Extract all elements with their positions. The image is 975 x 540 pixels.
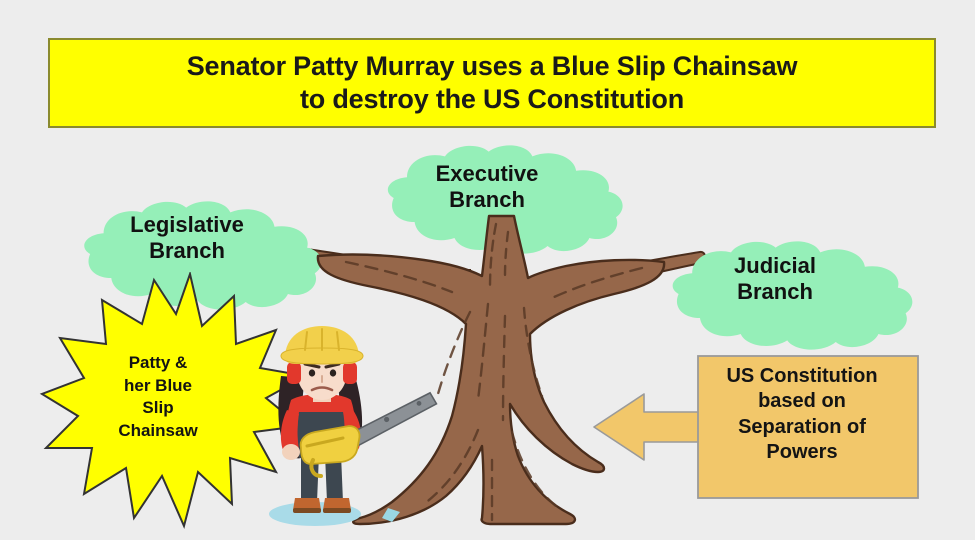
title-line-1: Senator Patty Murray uses a Blue Slip Ch… <box>187 50 798 83</box>
eye-left <box>309 369 315 376</box>
ear-muff-left <box>287 362 301 384</box>
hand-left <box>282 444 300 460</box>
eye-right <box>330 369 336 376</box>
title-banner: Senator Patty Murray uses a Blue Slip Ch… <box>48 38 936 128</box>
callout-arrow-left <box>594 394 702 460</box>
diagram-canvas: Senator Patty Murray uses a Blue Slip Ch… <box>0 0 975 540</box>
boot-left-sole <box>293 508 321 513</box>
ear-muff-right <box>343 362 357 384</box>
cloud-judicial <box>673 241 913 349</box>
boot-right-sole <box>323 508 351 513</box>
constitution-callout <box>592 352 922 502</box>
title-line-2: to destroy the US Constitution <box>300 83 684 116</box>
callout-box <box>698 356 918 498</box>
patty-lumberjack-illustration <box>243 326 443 532</box>
